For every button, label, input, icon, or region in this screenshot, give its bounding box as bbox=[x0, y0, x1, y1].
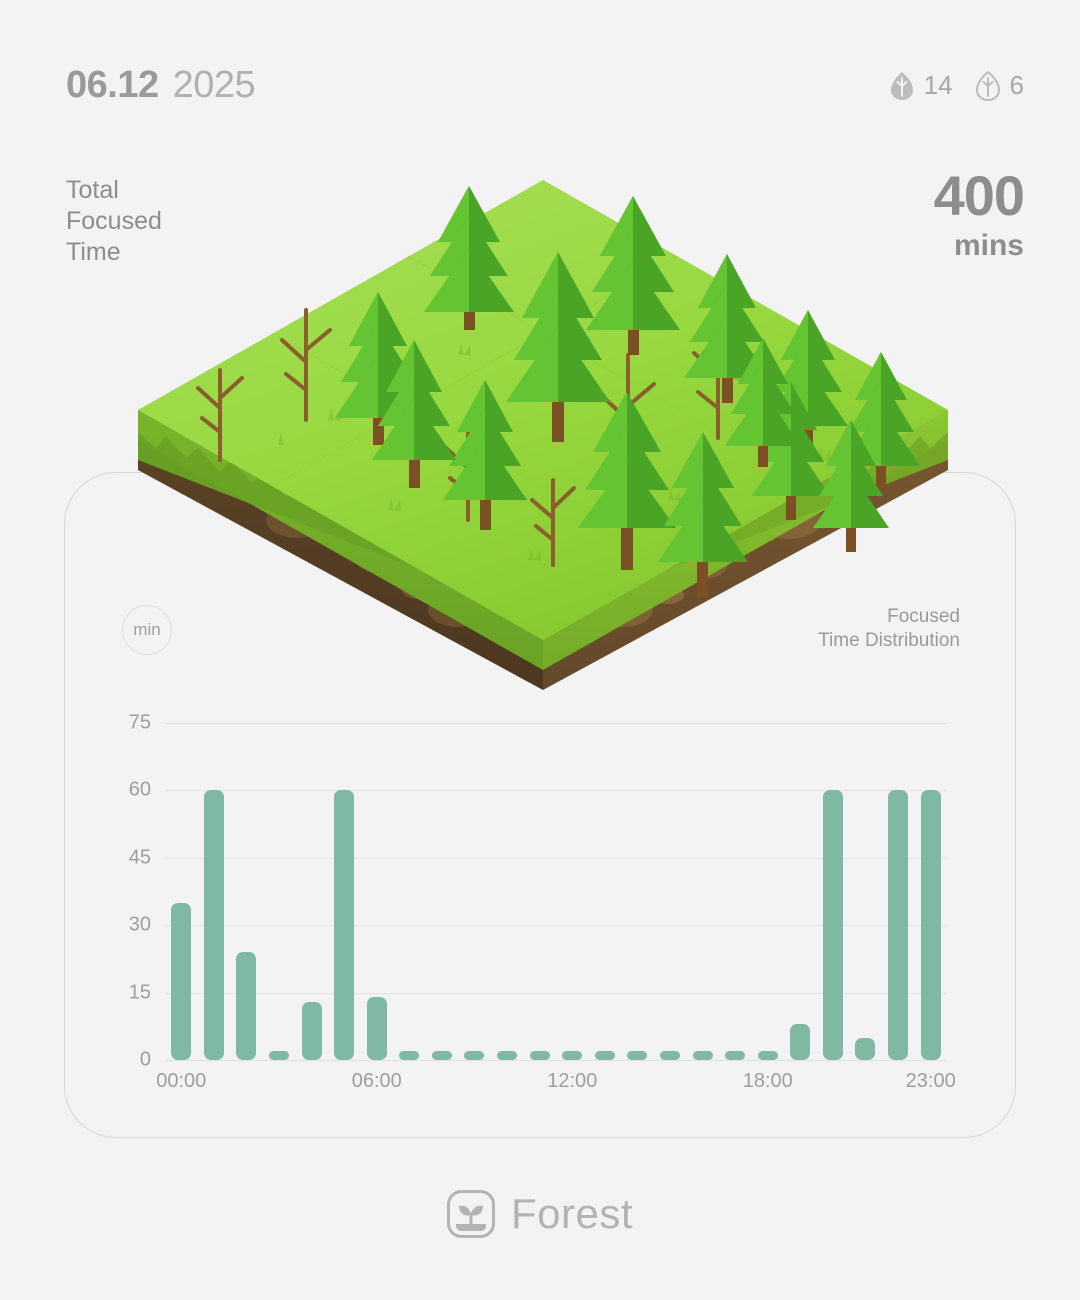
stat-healthy-trees: 14 bbox=[889, 70, 953, 101]
total-minutes: 400 bbox=[934, 168, 1024, 224]
bar-slot[interactable] bbox=[458, 700, 491, 1060]
leaf-outline-icon bbox=[975, 71, 1001, 101]
bar-slot[interactable] bbox=[784, 700, 817, 1060]
y-axis-label-15: 15 bbox=[129, 981, 151, 1004]
bar-slot[interactable] bbox=[230, 700, 263, 1060]
bar-07:00[interactable] bbox=[399, 1051, 419, 1060]
bar-slot[interactable] bbox=[589, 700, 622, 1060]
focus-distribution-chart bbox=[165, 700, 947, 1060]
app-branding: Forest bbox=[0, 1190, 1080, 1238]
bar-23:00[interactable] bbox=[921, 790, 941, 1060]
y-axis-label-60: 60 bbox=[129, 779, 151, 802]
y-axis-label-45: 45 bbox=[129, 846, 151, 869]
bar-10:00[interactable] bbox=[497, 1051, 517, 1060]
bar-slot[interactable] bbox=[849, 700, 882, 1060]
bar-06:00[interactable] bbox=[367, 997, 387, 1060]
forest-daily-summary-screen: 06.12 2025 14 6 bbox=[0, 0, 1080, 1300]
bar-02:00[interactable] bbox=[236, 952, 256, 1060]
total-label-line3: Time bbox=[66, 237, 162, 268]
x-axis-label-00:00: 00:00 bbox=[156, 1070, 206, 1093]
date-day: 06.12 bbox=[66, 64, 159, 107]
bar-slot[interactable] bbox=[491, 700, 524, 1060]
bar-slot[interactable] bbox=[654, 700, 687, 1060]
bar-09:00[interactable] bbox=[464, 1051, 484, 1060]
x-axis-label-12:00: 12:00 bbox=[547, 1070, 597, 1093]
brand-name: Forest bbox=[511, 1190, 633, 1238]
bar-slot[interactable] bbox=[914, 700, 947, 1060]
bar-21:00[interactable] bbox=[855, 1038, 875, 1061]
bar-slot[interactable] bbox=[719, 700, 752, 1060]
bar-slot[interactable] bbox=[556, 700, 589, 1060]
gridline-0 bbox=[165, 1060, 947, 1061]
chart-bars bbox=[165, 700, 947, 1060]
forest-sprout-logo-icon bbox=[447, 1190, 495, 1238]
bar-00:00[interactable] bbox=[171, 903, 191, 1061]
total-focused-time-label: Total Focused Time bbox=[66, 175, 162, 268]
bar-08:00[interactable] bbox=[432, 1051, 452, 1060]
bar-19:00[interactable] bbox=[790, 1024, 810, 1060]
total-focused-time-value: 400 mins bbox=[934, 168, 1024, 264]
bar-slot[interactable] bbox=[295, 700, 328, 1060]
bar-17:00[interactable] bbox=[725, 1051, 745, 1060]
bar-slot[interactable] bbox=[165, 700, 198, 1060]
bar-slot[interactable] bbox=[360, 700, 393, 1060]
chart-caption-line1: Focused bbox=[818, 605, 960, 629]
x-axis-label-18:00: 18:00 bbox=[743, 1070, 793, 1093]
bar-04:00[interactable] bbox=[302, 1002, 322, 1061]
bar-03:00[interactable] bbox=[269, 1051, 289, 1060]
bar-20:00[interactable] bbox=[823, 790, 843, 1060]
date-header: 06.12 2025 bbox=[66, 64, 255, 107]
y-axis-label-30: 30 bbox=[129, 914, 151, 937]
tree-stats: 14 6 bbox=[889, 70, 1024, 101]
x-axis-labels: 00:0006:0012:0018:0023:00 bbox=[165, 1070, 947, 1100]
bar-slot[interactable] bbox=[817, 700, 850, 1060]
minutes-unit-badge: min bbox=[122, 605, 172, 655]
bar-slot[interactable] bbox=[751, 700, 784, 1060]
stat-withered-trees: 6 bbox=[975, 70, 1024, 101]
bar-18:00[interactable] bbox=[758, 1051, 778, 1060]
bar-11:00[interactable] bbox=[530, 1051, 550, 1060]
header: 06.12 2025 14 6 bbox=[0, 0, 1080, 140]
total-label-line1: Total bbox=[66, 175, 162, 206]
bar-slot[interactable] bbox=[426, 700, 459, 1060]
bar-slot[interactable] bbox=[393, 700, 426, 1060]
bar-13:00[interactable] bbox=[595, 1051, 615, 1060]
healthy-trees-count: 14 bbox=[924, 70, 953, 101]
x-axis-label-06:00: 06:00 bbox=[352, 1070, 402, 1093]
bar-slot[interactable] bbox=[198, 700, 231, 1060]
x-axis-label-23:00: 23:00 bbox=[906, 1070, 956, 1093]
bar-slot[interactable] bbox=[686, 700, 719, 1060]
bar-slot[interactable] bbox=[263, 700, 296, 1060]
bar-slot[interactable] bbox=[882, 700, 915, 1060]
total-minutes-unit: mins bbox=[934, 228, 1024, 264]
bar-14:00[interactable] bbox=[627, 1051, 647, 1060]
chart-caption: Focused Time Distribution bbox=[818, 605, 960, 653]
bar-15:00[interactable] bbox=[660, 1051, 680, 1060]
y-axis-label-75: 75 bbox=[129, 711, 151, 734]
bar-16:00[interactable] bbox=[693, 1051, 713, 1060]
bar-01:00[interactable] bbox=[204, 790, 224, 1060]
y-axis-labels: 01530456075 bbox=[105, 700, 151, 1060]
withered-trees-count: 6 bbox=[1010, 70, 1024, 101]
chart-caption-line2: Time Distribution bbox=[818, 629, 960, 653]
bar-slot[interactable] bbox=[328, 700, 361, 1060]
total-label-line2: Focused bbox=[66, 206, 162, 237]
date-year: 2025 bbox=[173, 64, 256, 107]
bar-slot[interactable] bbox=[621, 700, 654, 1060]
leaf-filled-icon bbox=[889, 71, 915, 101]
bar-05:00[interactable] bbox=[334, 790, 354, 1060]
bar-12:00[interactable] bbox=[562, 1051, 582, 1060]
bar-slot[interactable] bbox=[523, 700, 556, 1060]
bar-22:00[interactable] bbox=[888, 790, 908, 1060]
y-axis-label-0: 0 bbox=[140, 1049, 151, 1072]
